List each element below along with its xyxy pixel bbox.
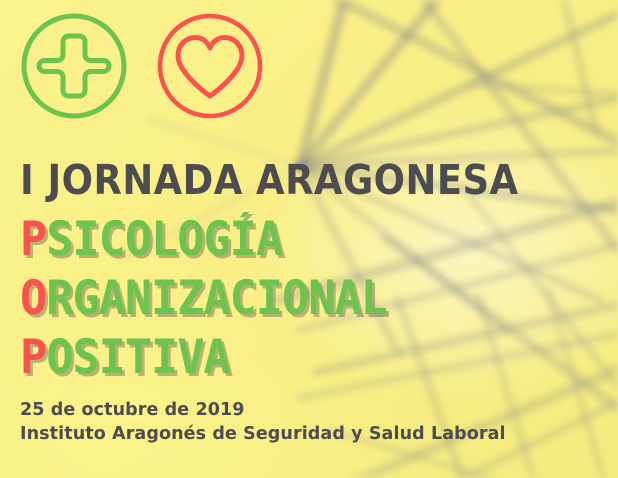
initial-letter: P xyxy=(20,330,46,385)
page-title: I JORNADA ARAGONESA xyxy=(20,160,519,200)
event-date: 25 de octubre de 2019 xyxy=(20,398,506,422)
word-remainder: RGANIZACIONAL xyxy=(46,271,387,326)
headline-stack: PSICOLOGÍA ORGANIZACIONAL POSITIVA xyxy=(20,210,574,387)
event-organization: Instituto Aragonés de Seguridad y Salud … xyxy=(20,422,506,446)
word-remainder: OSITIVA xyxy=(46,330,229,385)
icon-row xyxy=(20,12,264,120)
word-remainder: SICOLOGÍA xyxy=(46,212,282,267)
heart-in-circle-icon xyxy=(156,12,264,120)
plus-in-circle-icon xyxy=(20,12,128,120)
initial-letter: O xyxy=(20,271,46,326)
headline-line-psicologia: PSICOLOGÍA xyxy=(20,210,552,269)
footer-block: 25 de octubre de 2019 Instituto Aragonés… xyxy=(20,398,506,446)
headline-block: I JORNADA ARAGONESA PSICOLOGÍA ORGANIZAC… xyxy=(20,160,574,387)
poster-canvas: I JORNADA ARAGONESA PSICOLOGÍA ORGANIZAC… xyxy=(0,0,618,478)
headline-line-positiva: POSITIVA xyxy=(20,328,552,387)
initial-letter: P xyxy=(20,212,46,267)
headline-line-organizacional: ORGANIZACIONAL xyxy=(20,269,552,328)
